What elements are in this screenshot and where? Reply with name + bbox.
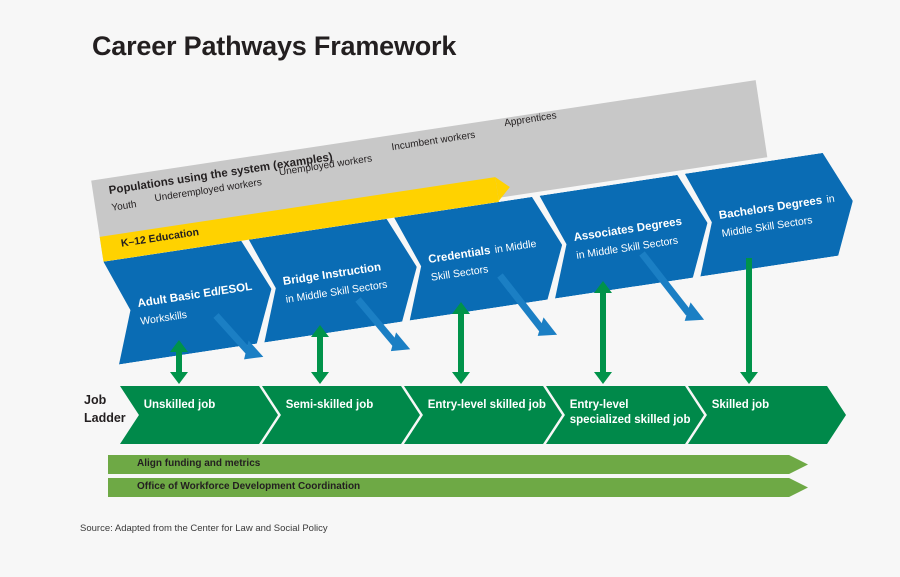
foundation-bar-label: Office of Workforce Development Coordina… (137, 481, 360, 492)
foundation-bar-align-funding[interactable]: Align funding and metrics (108, 455, 808, 474)
foundation-bar-label: Align funding and metrics (137, 458, 260, 469)
arrow-up-down-unskilled (170, 340, 188, 384)
job-chevron-entry-level-skilled[interactable]: Entry-level skilled job (404, 386, 562, 444)
job-ladder-label-line1: Job (84, 391, 126, 409)
diagram-canvas: Career Pathways Framework Populations us… (0, 0, 900, 577)
education-block-title: Adult Basic Ed/ESOL (137, 281, 253, 310)
job-chevron-label: Skilled job (712, 398, 835, 413)
job-chevron-label: Unskilled job (144, 398, 267, 413)
job-chevron-label: Entry-level skilled job (428, 398, 551, 413)
source-note: Source: Adapted from the Center for Law … (80, 523, 328, 534)
job-chevron-skilled[interactable]: Skilled job (688, 386, 846, 444)
job-ladder-label: Job Ladder (84, 391, 126, 427)
education-block-associates-degrees[interactable]: Associates Degrees in Middle Skill Secto… (540, 171, 716, 298)
job-chevron-semi-skilled[interactable]: Semi-skilled job (262, 386, 420, 444)
arrow-up-down-entry-level-skilled (452, 302, 470, 384)
job-chevron-unskilled[interactable]: Unskilled job (120, 386, 278, 444)
arrow-down-skilled-job (740, 258, 758, 384)
job-ladder-label-line2: Ladder (84, 409, 126, 427)
education-block-bachelors-degrees[interactable]: Bachelors Degrees in Middle Skill Sector… (685, 149, 861, 276)
job-chevron-entry-level-specialized[interactable]: Entry-level specialized skilled job (546, 386, 704, 444)
job-chevron-label: Semi-skilled job (286, 398, 409, 413)
foundation-bar-office-workforce[interactable]: Office of Workforce Development Coordina… (108, 478, 808, 497)
arrow-up-down-semi-skilled (311, 325, 329, 384)
job-chevron-label: Entry-level specialized skilled job (570, 398, 693, 427)
education-block-subtitle: Workskills (140, 309, 188, 328)
arrow-up-down-entry-level-specialized (594, 281, 612, 384)
